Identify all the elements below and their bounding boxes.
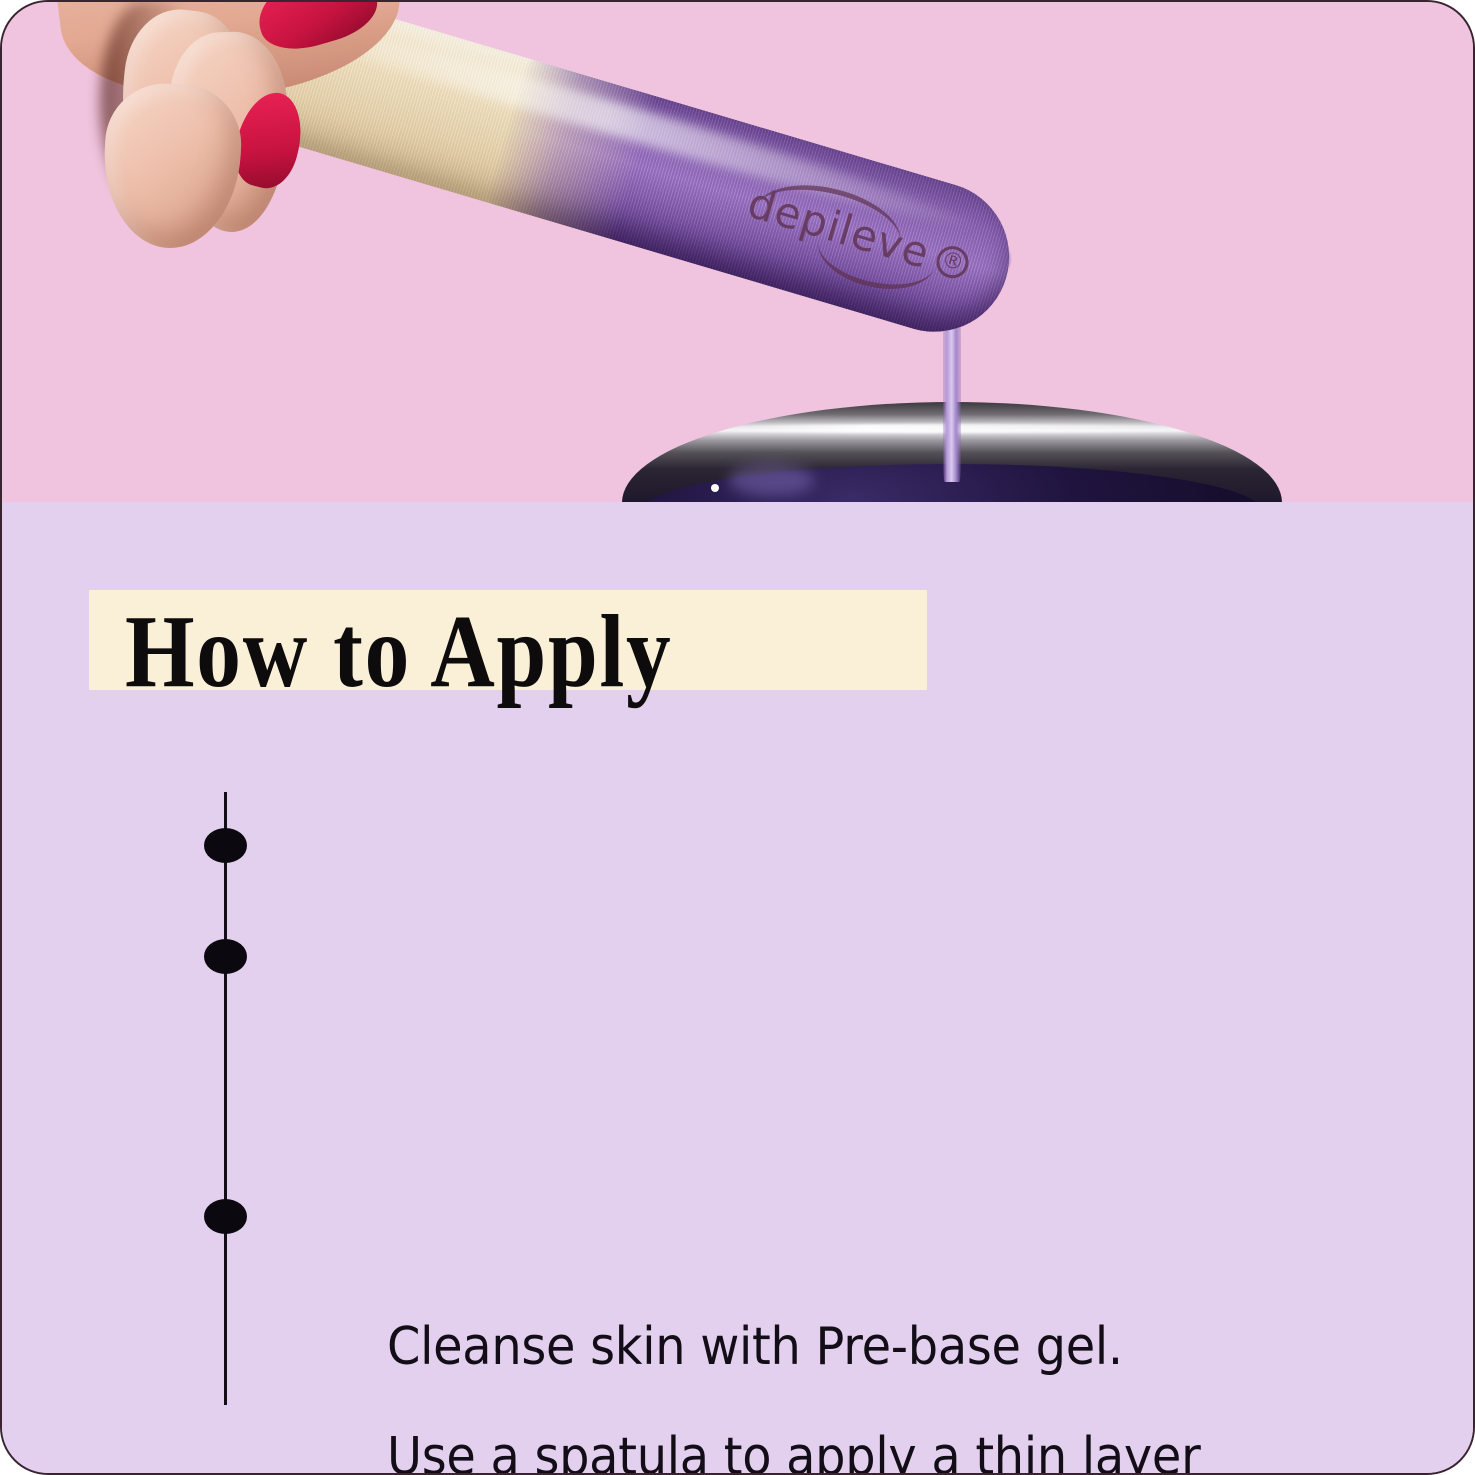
instructions-panel: How to Apply Cleanse skin with Pre-base … (2, 502, 1473, 1475)
instruction-card: depileve ® How to Apply Cleanse skin wit… (0, 0, 1475, 1475)
step-bullet-3 (204, 1199, 247, 1234)
list-item: Cleanse skin with Pre-base gel. (387, 1312, 1247, 1383)
tin-glint-small (711, 484, 719, 492)
steps-timeline (224, 792, 227, 1405)
list-item: Use a spatula to apply a thin layer of w… (387, 1422, 1247, 1475)
page-title: How to Apply (125, 600, 813, 704)
hand-holding-spatula-icon (42, 2, 462, 292)
product-photo: depileve ® (2, 2, 1473, 502)
step-bullet-2 (204, 939, 247, 974)
step-bullet-1 (204, 828, 247, 863)
